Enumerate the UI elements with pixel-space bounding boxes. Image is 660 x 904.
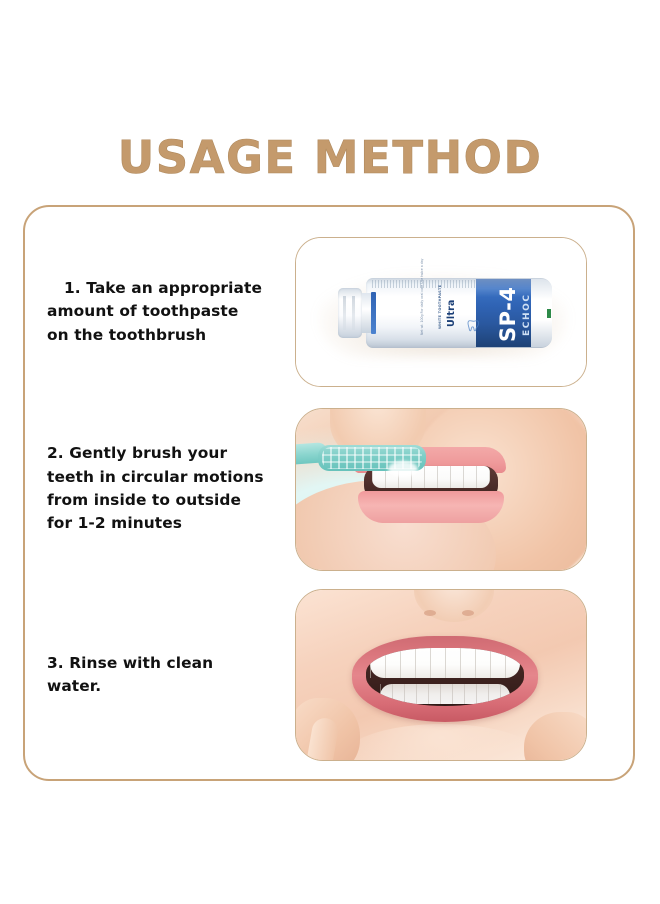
step-2-line-4: for 1-2 minutes [47, 512, 295, 535]
product-model-label: SP-4 [496, 287, 520, 342]
product-sub-label: Ultra [446, 299, 457, 327]
step-3-image-panel [295, 589, 587, 761]
steps-container: 1. Take an appropriate amount of toothpa… [23, 205, 635, 781]
product-sub-label-small: WHITE TOOTHPASTE [438, 285, 442, 329]
clean-smile-illustration [296, 590, 586, 760]
step-1-line-2: amount of toothpaste [47, 300, 295, 323]
tube-cap-icon [338, 288, 362, 338]
step-3-line-1: 3. Rinse with clean [47, 652, 295, 675]
step-2-line-3: from inside to outside [47, 489, 295, 512]
product-brand-label: ECHOC [522, 293, 532, 336]
step-2-text: 2. Gently brush your teeth in circular m… [23, 442, 295, 536]
step-row-2: 2. Gently brush your teeth in circular m… [23, 405, 635, 573]
step-2-line-1: 2. Gently brush your [47, 442, 295, 465]
step-3-line-2: water. [47, 675, 295, 698]
step-1-line-1: 1. Take an appropriate [47, 277, 295, 300]
step-1-text: 1. Take an appropriate amount of toothpa… [23, 277, 295, 347]
step-row-1: 1. Take an appropriate amount of toothpa… [23, 233, 635, 391]
page-title: USAGE METHOD [0, 131, 660, 184]
step-2-line-2: teeth in circular motions [47, 466, 295, 489]
step-row-3: 3. Rinse with clean water. [23, 587, 635, 763]
step-2-image-panel [295, 408, 587, 571]
tooth-icon [466, 318, 482, 334]
toothpaste-tube-illustration: SP-4 ECHOC Ultra WHITE TOOTHPASTE Net wt… [338, 278, 552, 348]
product-fine-print: Net wt. 100g For daily oral care Use twi… [420, 258, 425, 335]
step-1-image-panel: SP-4 ECHOC Ultra WHITE TOOTHPASTE Net wt… [295, 237, 587, 387]
step-1-line-3: on the toothbrush [47, 324, 295, 347]
step-3-text: 3. Rinse with clean water. [23, 652, 295, 699]
brushing-teeth-illustration [296, 409, 586, 570]
